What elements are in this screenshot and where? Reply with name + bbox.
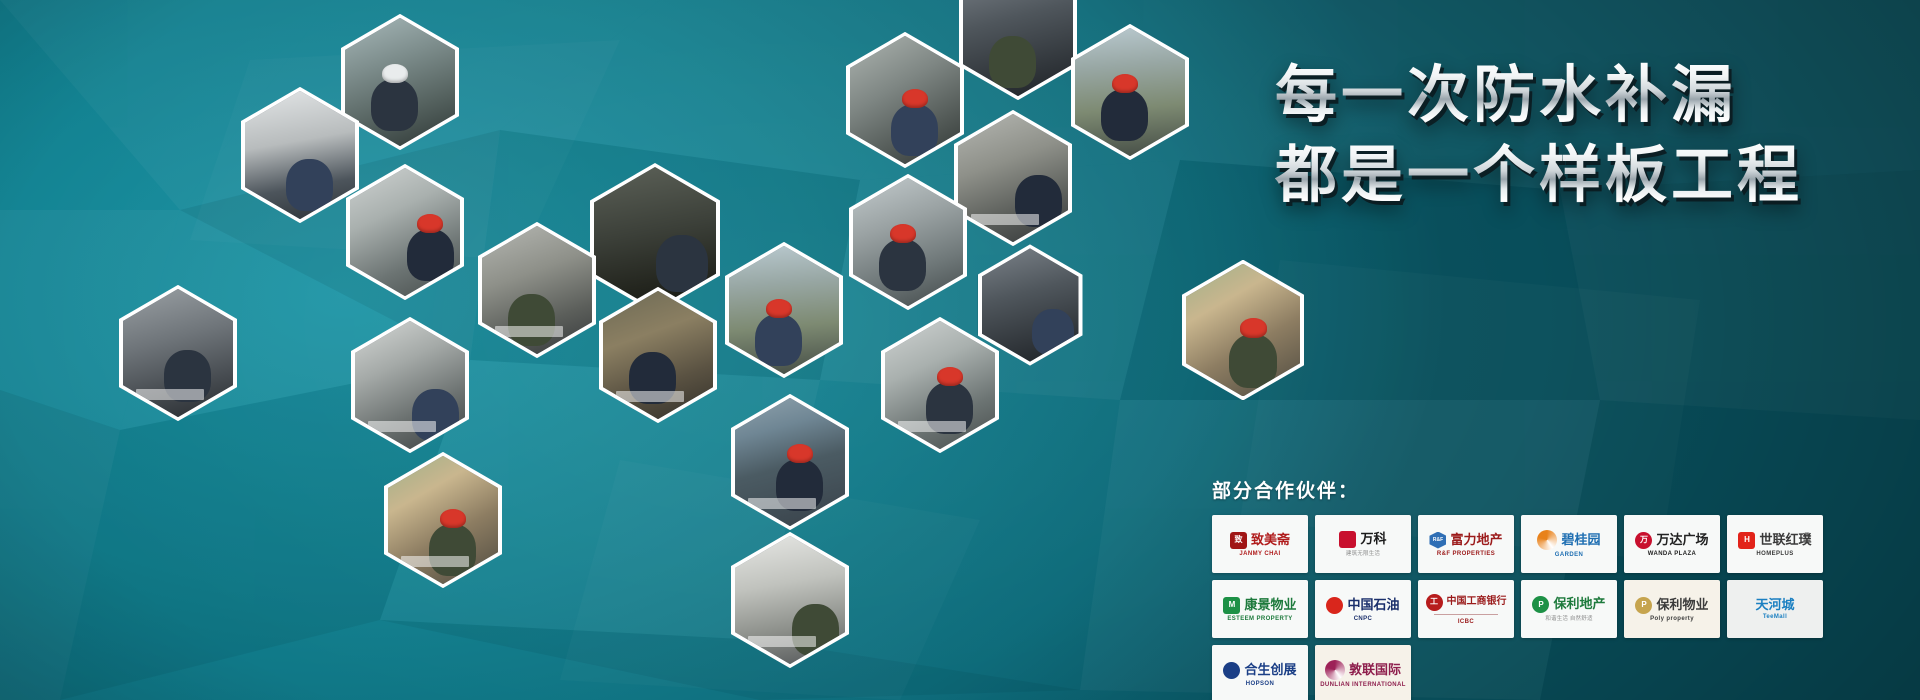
logo-name-cn: 万科 [1360,533,1386,546]
partner-logo-rf-properties[interactable]: R&F富力地产R&F PROPERTIES [1418,515,1514,573]
logo-name-cn: 天河城 [1755,599,1794,612]
logo-name-en: WANDA PLAZA [1648,551,1697,557]
logo-name-en: HOPSON [1246,681,1274,687]
safety-helmet-icon [937,367,963,386]
partners-title: 部分合作伙伴： [1212,476,1832,503]
worker-figure [1101,89,1148,141]
hex-photo-inner [729,246,839,374]
photo-watermark [748,498,816,510]
partner-logo-cnpc[interactable]: 中国石油CNPC [1315,580,1411,638]
logo-name-cn: 康景物业 [1244,599,1296,612]
hex-photo-inner [594,167,716,309]
photo-watermark [495,326,563,338]
headline-line-2: 都是一个样板工程 [1275,140,1895,210]
hex-photo-tile [731,532,849,668]
hex-photo-inner [885,321,995,449]
safety-helmet-icon [1240,318,1267,338]
partner-logo-grid: 致致美斋JANMY CHAI万科建筑无限生活R&F富力地产R&F PROPERT… [1212,515,1832,700]
worker-figure [891,104,938,156]
photo-watermark [898,421,966,433]
partner-logo-dunlian-intl[interactable]: 敦联国际DUNLIAN INTERNATIONAL [1315,645,1411,700]
hex-photo-inner [735,536,845,664]
safety-helmet-icon [766,299,792,318]
logo-mark-row: H世联红璞 [1738,532,1811,549]
worker-figure [656,235,708,292]
logo-mark-row: 合生创展 [1223,662,1296,679]
swirl-icon [1537,530,1557,550]
logo-mark-row: 中国石油 [1326,597,1399,614]
logo-mark-row: P保利地产 [1532,596,1605,613]
partner-logo-esteem-property[interactable]: M康景物业ESTEEM PROPERTY [1212,580,1308,638]
logo-mark-row: 天河城 [1755,599,1794,612]
square-mark-icon: H [1738,532,1755,549]
logo-name-cn: 保利物业 [1656,599,1708,612]
hex-photo-tile [119,285,237,421]
logo-name-en: ICBC [1458,619,1474,625]
logo-mark-row: 碧桂园 [1537,530,1600,550]
hex-photo-inner [482,226,592,354]
hex-photo-inner [735,398,845,526]
safety-helmet-icon [890,224,916,243]
hex-photo-inner [963,0,1073,96]
partner-logo-hopson[interactable]: 合生创展HOPSON [1212,645,1308,700]
worker-figure [1229,334,1278,388]
hex-photo-tile [478,222,596,358]
logo-name-en: DUNLIAN INTERNATIONAL [1320,682,1406,688]
logo-name-en: GARDEN [1555,552,1583,558]
hex-photo-tile [725,242,843,378]
photo-watermark [368,421,436,433]
worker-figure [755,314,802,366]
worker-figure [1032,309,1074,355]
headline-line-1: 每一次防水补漏 [1275,60,1895,130]
logo-mark-row: 敦联国际 [1325,660,1401,680]
hex-photo-tile [959,0,1077,100]
hex-photo-inner [345,18,455,146]
square-mark-icon: M [1223,597,1240,614]
promo-banner: 每一次防水补漏 都是一个样板工程 部分合作伙伴： 致致美斋JANMY CHAI万… [0,0,1920,700]
hex-photo-tile [846,32,964,168]
logo-name-en: CNPC [1354,616,1373,622]
logo-name-en: HOMEPLUS [1756,551,1793,557]
circ-mark-icon: P [1635,597,1652,614]
hex-photo-inner [853,178,963,306]
logo-name-cn: 中国石油 [1347,599,1399,612]
logo-name-cn: 保利地产 [1553,598,1605,611]
circ-mark-icon: 万 [1635,532,1652,549]
hex-photo-inner [982,248,1079,361]
photo-watermark [748,636,816,648]
hex-photo-tile [351,317,469,453]
logo-name-cn: 中国工商银行 [1447,597,1507,607]
hex-photo-tile [599,287,717,423]
circ-mark-icon [1223,662,1240,679]
hex-photo-inner [958,114,1068,242]
worker-figure [989,36,1036,88]
partners-block: 部分合作伙伴： 致致美斋JANMY CHAI万科建筑无限生活R&F富力地产R&F… [1212,476,1832,700]
partner-logo-poly-property[interactable]: P保利物业Poly property [1624,580,1720,638]
circ-mark-icon [1326,597,1343,614]
logo-name-cn: 碧桂园 [1561,534,1600,547]
logo-name-en: ESTEEM PROPERTY [1227,616,1292,622]
worker-figure [879,239,926,291]
photo-watermark [401,556,469,568]
hex-photo-inner [850,36,960,164]
logo-name-cn: 致美斋 [1251,534,1290,547]
safety-helmet-icon [1112,74,1138,93]
hex-photo-inner [123,289,233,417]
hex-photo-inner [1075,28,1185,156]
hex-photo-tile [384,452,502,588]
logo-mark-row: 致致美斋 [1230,532,1290,549]
logo-mark-row: R&F富力地产 [1429,532,1502,549]
hex-photo-tile [954,110,1072,246]
worker-figure [407,229,454,281]
logo-tagline: 建筑无限生活 [1346,549,1380,557]
hex-photo-inner [388,456,498,584]
logo-mark-row: 万科 [1339,531,1386,548]
partner-logo-homeplus[interactable]: H世联红璞HOMEPLUS [1727,515,1823,573]
square-mark-icon [1339,531,1356,548]
hex-photo-tile [731,394,849,530]
partner-logo-wanda-plaza[interactable]: 万万达广场WANDA PLAZA [1624,515,1720,573]
safety-helmet-icon [787,444,813,463]
hex-photo-inner [1186,264,1300,397]
worker-figure [429,524,476,576]
circ-mark-icon: P [1532,596,1549,613]
safety-helmet-icon [440,509,466,528]
partner-logo-poly-real-estate[interactable]: P保利地产和谐生活 自然舒适 [1521,580,1617,638]
logo-mark-row: M康景物业 [1223,597,1296,614]
worker-figure [508,294,555,346]
partner-logo-country-garden[interactable]: 碧桂园GARDEN [1521,515,1617,573]
photo-watermark [971,214,1039,226]
safety-helmet-icon [382,64,408,83]
partner-logo-vanke[interactable]: 万科建筑无限生活 [1315,515,1411,573]
hex-photo-inner [350,168,460,296]
worker-figure [792,604,839,656]
hex-photo-cluster [0,0,1160,700]
photo-watermark [136,389,204,401]
logo-name-cn: 世联红璞 [1759,534,1811,547]
logo-mark-row: 工中国工商银行 [1426,594,1507,611]
hex-mark-icon: R&F [1429,532,1446,549]
logo-divider [1434,614,1499,615]
hex-photo-inner [603,291,713,419]
logo-name-cn: 敦联国际 [1349,664,1401,677]
logo-name-cn: 富力地产 [1450,534,1502,547]
manhole-inspection-photo [594,167,716,309]
worker-figure [412,389,459,441]
partner-logo-zhimeizhai[interactable]: 致致美斋JANMY CHAI [1212,515,1308,573]
logo-name-cn: 万达广场 [1656,534,1708,547]
worker-figure [286,159,333,211]
square-mark-icon: 致 [1230,532,1247,549]
hex-photo-inner [245,91,355,219]
worker-figure [371,79,418,131]
photo-watermark [616,391,684,403]
partner-logo-icbc[interactable]: 工中国工商银行ICBC [1418,580,1514,638]
logo-name-en: R&F PROPERTIES [1437,551,1495,557]
logo-tagline: 和谐生活 自然舒适 [1545,614,1592,622]
safety-helmet-icon [417,214,443,233]
logo-mark-row: P保利物业 [1635,597,1708,614]
headline-block: 每一次防水补漏 都是一个样板工程 [1275,60,1895,210]
safety-helmet-icon [902,89,928,108]
hex-photo-tile [849,174,967,310]
logo-mark-row: 万万达广场 [1635,532,1708,549]
circ-mark-icon: 工 [1426,594,1443,611]
hex-photo-inner [355,321,465,449]
partner-logo-teemall[interactable]: 天河城TeeMall [1727,580,1823,638]
night-wall-work-photo [982,248,1079,361]
logo-name-cn: 合生创展 [1244,664,1296,677]
logo-name-en: TeeMall [1763,614,1787,620]
swirl-icon [1325,660,1345,680]
logo-name-en: Poly property [1650,616,1694,622]
hex-photo-tile [978,244,1083,365]
logo-name-en: JANMY CHAI [1239,551,1280,557]
hex-photo-tile [346,164,464,300]
